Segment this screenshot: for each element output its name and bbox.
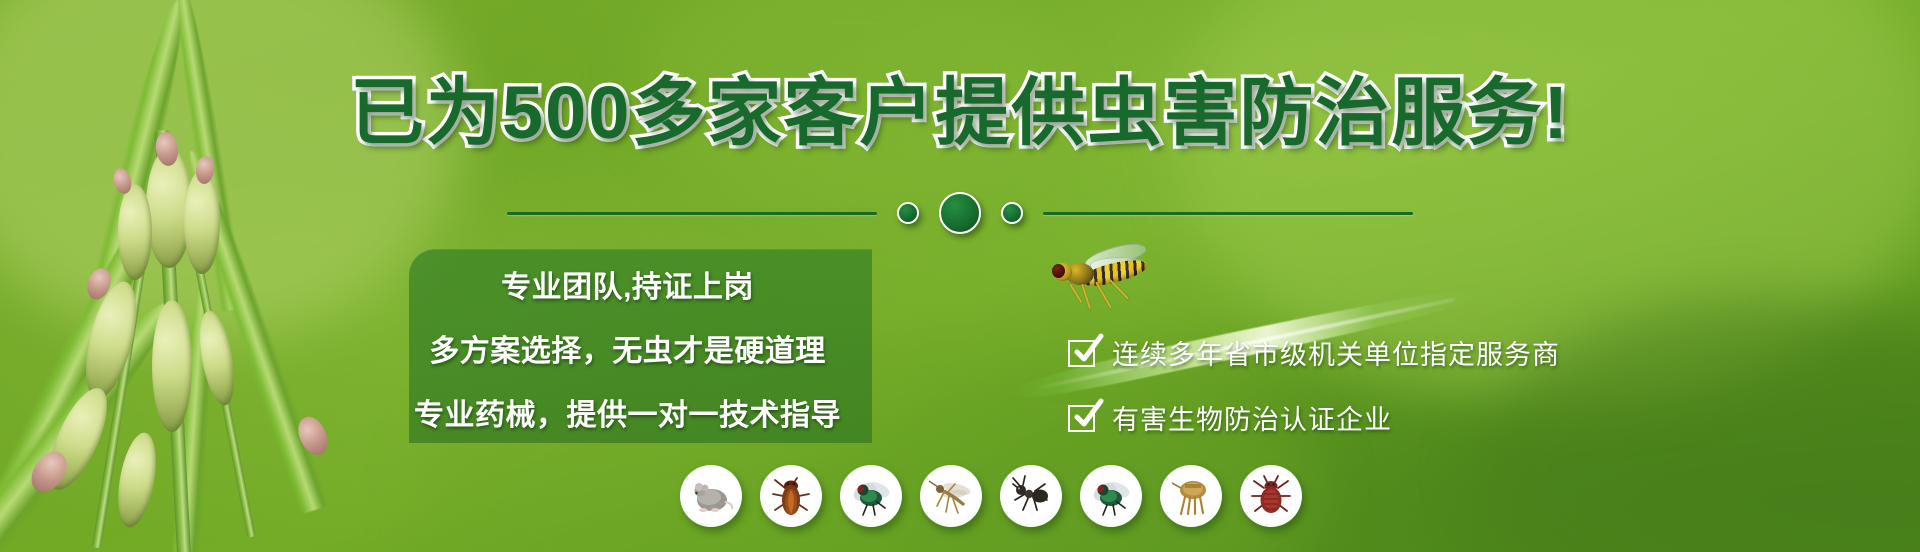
bedbug-icon[interactable] [1240, 465, 1302, 527]
slogan-line-3: 专业药械，提供一对一技术指导 [414, 390, 841, 434]
background-blur-blotch [0, 0, 460, 340]
credential-label-2: 有害生物防治认证企业 [1112, 398, 1392, 437]
divider-rule-right [1043, 212, 1413, 215]
pest-icon-strip [680, 465, 1302, 527]
mouse-icon[interactable] [680, 465, 742, 527]
checkbox-checked-icon [1068, 403, 1098, 433]
checkbox-checked-icon [1068, 338, 1098, 368]
ant-icon[interactable] [1000, 465, 1062, 527]
fly-icon[interactable] [840, 465, 902, 527]
headline-text: 已为500多家客户提供虫害防治服务! [350, 71, 1570, 154]
hoverfly-icon [1040, 245, 1170, 315]
divider-dot-small-right [1001, 202, 1023, 224]
list-item: 有害生物防治认证企业 [1068, 398, 1688, 437]
slogan-line-2: 多方案选择，无虫才是硬道理 [429, 326, 826, 370]
divider-ornament [0, 196, 1920, 230]
divider-dot-small-left [897, 202, 919, 224]
divider-dot-large [939, 192, 981, 234]
slogan-line-1: 专业团队,持证上岗 [501, 262, 754, 306]
list-item: 连续多年省市级机关单位指定服务商 [1068, 333, 1688, 372]
mosquito-icon[interactable] [920, 465, 982, 527]
pest-control-banner: 已为500多家客户提供虫害防治服务! 专业团队,持证上岗 多方案选择，无虫才是硬… [0, 0, 1920, 552]
page-title: 已为500多家客户提供虫害防治服务! [0, 76, 1920, 150]
fly-icon-2[interactable] [1080, 465, 1142, 527]
divider-rule-left [507, 212, 877, 215]
cockroach-icon[interactable] [760, 465, 822, 527]
flea-icon[interactable] [1160, 465, 1222, 527]
slogan-panel: 专业团队,持证上岗 多方案选择，无虫才是硬道理 专业药械，提供一对一技术指导 [409, 249, 872, 443]
credential-label-1: 连续多年省市级机关单位指定服务商 [1112, 333, 1560, 372]
credentials-checklist: 连续多年省市级机关单位指定服务商 有害生物防治认证企业 [1068, 333, 1688, 437]
